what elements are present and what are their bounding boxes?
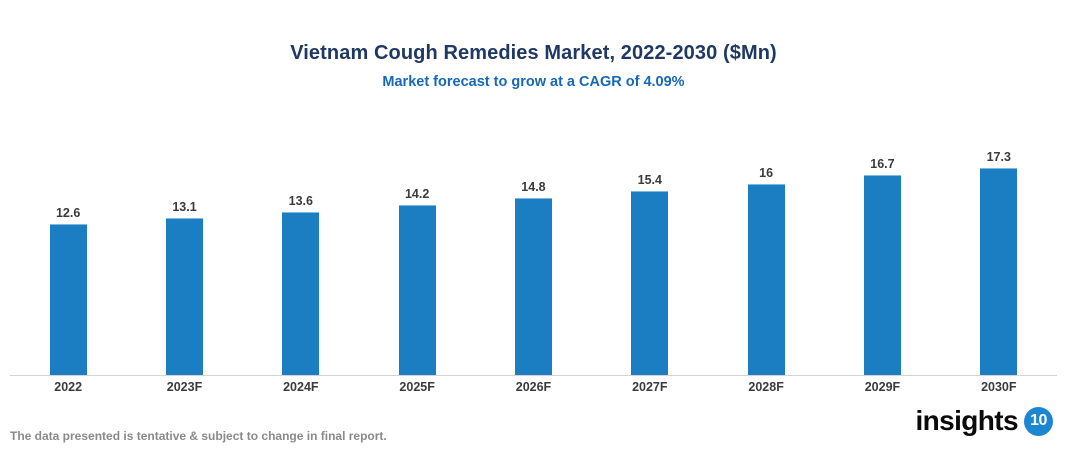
x-axis-tick-label: 2027F: [592, 379, 708, 395]
x-axis-tick-label: 2028F: [708, 379, 824, 395]
bar-series: 12.613.113.614.214.815.41616.717.3: [10, 110, 1057, 375]
bar-value-label: 15.4: [638, 173, 662, 187]
x-axis-line: [10, 375, 1057, 376]
logo-wordmark: insights: [915, 406, 1018, 436]
bar-slot: 15.4: [592, 110, 708, 375]
bar-slot: 14.2: [359, 110, 475, 375]
logo-badge-icon: 10: [1024, 407, 1053, 436]
bar-slot: 14.8: [475, 110, 591, 375]
bar[interactable]: [282, 212, 319, 375]
disclaimer-text: The data presented is tentative & subjec…: [10, 428, 387, 444]
x-axis-tick-label: 2030F: [941, 379, 1057, 395]
x-axis-labels: 20222023F2024F2025F2026F2027F2028F2029F2…: [10, 379, 1057, 395]
x-axis-tick-label: 2023F: [126, 379, 242, 395]
bar-value-label: 12.6: [56, 206, 80, 220]
x-axis-tick-label: 2024F: [243, 379, 359, 395]
bar[interactable]: [399, 205, 436, 375]
x-axis-tick-label: 2025F: [359, 379, 475, 395]
bar-slot: 13.1: [126, 110, 242, 375]
x-axis-tick-label: 2022: [10, 379, 126, 395]
bar-value-label: 14.2: [405, 187, 429, 201]
bar-slot: 17.3: [941, 110, 1057, 375]
bar-value-label: 17.3: [987, 150, 1011, 164]
bar-slot: 12.6: [10, 110, 126, 375]
page-title: Vietnam Cough Remedies Market, 2022-2030…: [0, 40, 1067, 66]
bar[interactable]: [980, 168, 1017, 375]
bar[interactable]: [166, 218, 203, 375]
insights10-logo: insights 10: [915, 406, 1053, 436]
chart-header: Vietnam Cough Remedies Market, 2022-2030…: [0, 40, 1067, 92]
bar-slot: 13.6: [243, 110, 359, 375]
bar-value-label: 13.1: [172, 200, 196, 214]
bar-value-label: 16.7: [870, 157, 894, 171]
bar-value-label: 16: [759, 166, 773, 180]
x-axis-tick-label: 2029F: [824, 379, 940, 395]
plot-area: 12.613.113.614.214.815.41616.717.3: [0, 110, 1067, 375]
chart-subtitle: Market forecast to grow at a CAGR of 4.0…: [0, 72, 1067, 92]
bar[interactable]: [50, 224, 87, 375]
bar[interactable]: [515, 198, 552, 375]
bar[interactable]: [748, 184, 785, 375]
bar-value-label: 13.6: [289, 194, 313, 208]
bar[interactable]: [631, 191, 668, 375]
x-axis-tick-label: 2026F: [475, 379, 591, 395]
bar-slot: 16.7: [824, 110, 940, 375]
bar[interactable]: [864, 175, 901, 375]
bar-value-label: 14.8: [521, 180, 545, 194]
bar-slot: 16: [708, 110, 824, 375]
chart-page: Vietnam Cough Remedies Market, 2022-2030…: [0, 0, 1067, 454]
